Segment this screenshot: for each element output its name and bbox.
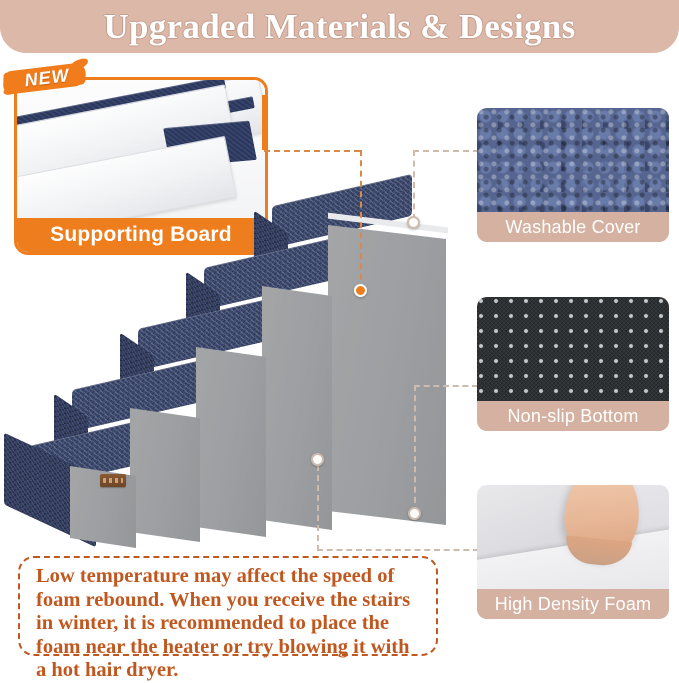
- connector-dot-supporting-board: [354, 284, 367, 297]
- brand-logo-tag: [100, 474, 126, 487]
- dotted-grip-texture-icon: [477, 297, 669, 401]
- feature-panel-washable-cover: Washable Cover: [477, 108, 669, 242]
- connector-washable-dash-h: [413, 150, 479, 152]
- connector-supporting-board-dash-v: [360, 150, 362, 290]
- side-panel-step4: [262, 286, 332, 530]
- side-panel-upper: [328, 225, 446, 525]
- connector-supporting-board-solid: [262, 95, 281, 150]
- temperature-note-box: Low temperature may affect the speed of …: [18, 556, 438, 656]
- connector-dot-foam: [311, 453, 324, 466]
- connector-foam-dash-h: [317, 549, 479, 551]
- temperature-note-text: Low temperature may affect the speed of …: [36, 565, 422, 683]
- feature-panel-non-slip-bottom: Non-slip Bottom: [477, 297, 669, 431]
- connector-supporting-board-dash-h: [264, 150, 360, 152]
- washable-cover-label: Washable Cover: [505, 217, 640, 238]
- connector-dot-washable: [407, 216, 420, 229]
- page-title: Upgraded Materials & Designs: [103, 7, 575, 47]
- pet-stairs-illustration: [28, 170, 448, 560]
- non-slip-bottom-label: Non-slip Bottom: [507, 406, 638, 427]
- high-density-foam-caption-bar: High Density Foam: [477, 589, 669, 619]
- washable-cover-swatch: [477, 108, 669, 212]
- non-slip-bottom-caption-bar: Non-slip Bottom: [477, 401, 669, 431]
- connector-nonslip-dash-h: [414, 385, 478, 387]
- high-density-foam-photo: [477, 485, 669, 589]
- connector-dot-nonslip: [408, 507, 421, 520]
- foam-texture-icon: [477, 485, 669, 589]
- washable-cover-caption-bar: Washable Cover: [477, 212, 669, 242]
- connector-foam-dash-v: [317, 465, 319, 551]
- connector-washable-dash-v: [413, 150, 415, 220]
- high-density-foam-label: High Density Foam: [495, 594, 651, 615]
- side-panel-step3: [196, 347, 266, 537]
- header-banner: Upgraded Materials & Designs: [0, 0, 679, 53]
- connector-nonslip-dash-v: [414, 385, 416, 513]
- fabric-texture-icon: [477, 108, 669, 212]
- feature-panel-high-density-foam: High Density Foam: [477, 485, 669, 619]
- side-panel-step2: [130, 408, 200, 542]
- new-badge-label: NEW: [11, 63, 83, 93]
- non-slip-bottom-swatch: [477, 297, 669, 401]
- infographic-canvas: Upgraded Materials & Designs Supporting …: [0, 0, 679, 671]
